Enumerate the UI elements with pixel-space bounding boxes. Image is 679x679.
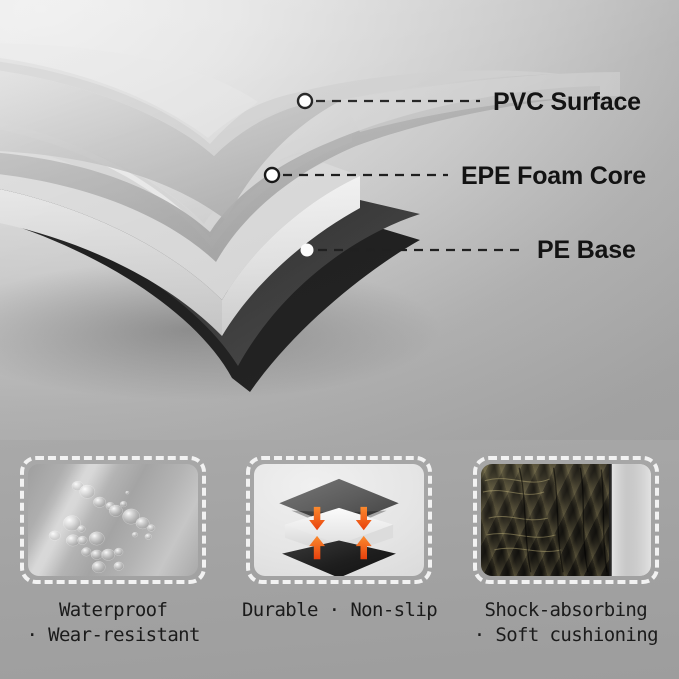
feature-caption-durable: Durable · Non-slip [242,598,437,623]
feature-strip: Waterproof · Wear-resistant [0,440,679,679]
exploded-view-illustration: PVC Surface EPE Foam Core PE Base [0,0,679,440]
layer-stack-graphic [0,0,679,440]
feature-caption-shock-absorbing: Shock-absorbing · Soft cushioning [474,598,658,648]
feature-caption-waterproof: Waterproof · Wear-resistant [26,598,199,648]
crinkled-cushion-material-icon [481,464,651,576]
feature-item-durable: Durable · Non-slip [226,440,452,679]
feature-frame-waterproof [20,456,206,584]
feature-frame-durable [246,456,432,584]
callout-label-epe-foam-core: EPE Foam Core [461,162,646,191]
callout-label-pvc-surface: PVC Surface [493,88,641,117]
feature-frame-shock-absorbing [473,456,659,584]
bottom-plate [283,541,397,576]
feature-item-shock-absorbing: Shock-absorbing · Soft cushioning [453,440,679,679]
callout-label-pe-base: PE Base [537,236,636,265]
feature-item-waterproof: Waterproof · Wear-resistant [0,440,226,679]
marker-dot-pvc [298,94,312,108]
stacked-layers-compression-icon [254,464,424,576]
water-droplets-on-fabric-icon [28,464,198,576]
marker-dot-epe [265,168,279,182]
marker-dot-pe [301,244,314,257]
infographic-canvas: PVC Surface EPE Foam Core PE Base [0,0,679,679]
